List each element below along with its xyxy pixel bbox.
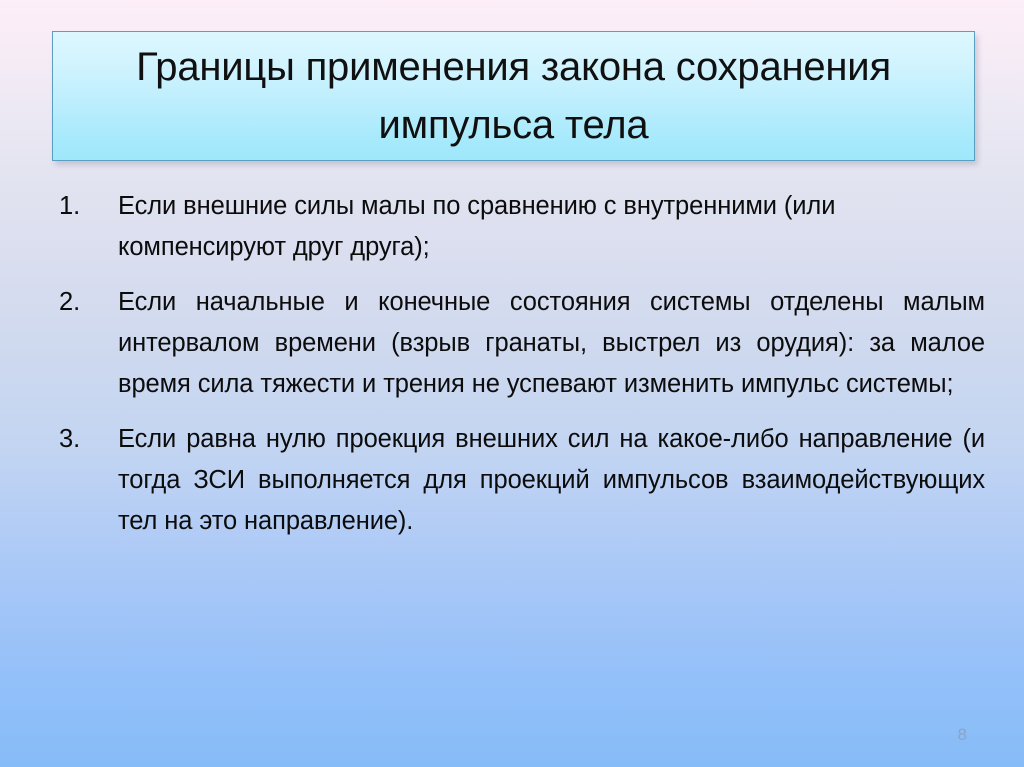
list-item-text: Если равна нулю проекция внешних сил на …: [118, 419, 985, 542]
list-item-marker: 1.: [59, 186, 101, 227]
list-item-marker: 3.: [59, 419, 101, 460]
slide-canvas: Границы применения закона сохранения имп…: [0, 0, 1024, 767]
list-item-marker: 2.: [59, 282, 101, 323]
list-item: 3. Если равна нулю проекция внешних сил …: [55, 419, 985, 542]
list-item-text: Если начальные и конечные состояния сист…: [118, 282, 985, 405]
page-title: Границы применения закона сохранения имп…: [53, 38, 974, 154]
slide-title-box: Границы применения закона сохранения имп…: [52, 31, 975, 161]
list-item: 2. Если начальные и конечные состояния с…: [55, 282, 985, 405]
list-item-text: Если внешние силы малы по сравнению с вн…: [118, 186, 985, 268]
list-item: 1. Если внешние силы малы по сравнению с…: [55, 186, 985, 268]
page-number: 8: [958, 725, 967, 745]
slide-body-list: 1. Если внешние силы малы по сравнению с…: [55, 186, 985, 542]
